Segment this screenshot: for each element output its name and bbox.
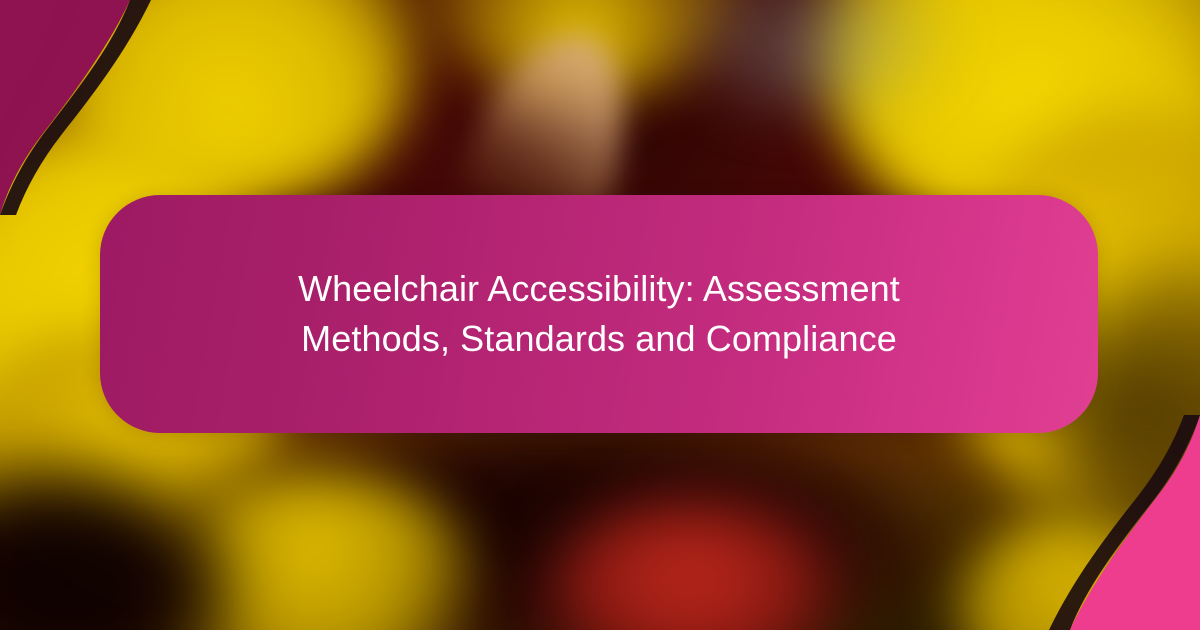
page-title: Wheelchair Accessibility: Assessment Met…: [219, 264, 979, 364]
social-card-canvas: Wheelchair Accessibility: Assessment Met…: [0, 0, 1200, 630]
title-card: Wheelchair Accessibility: Assessment Met…: [100, 195, 1098, 433]
